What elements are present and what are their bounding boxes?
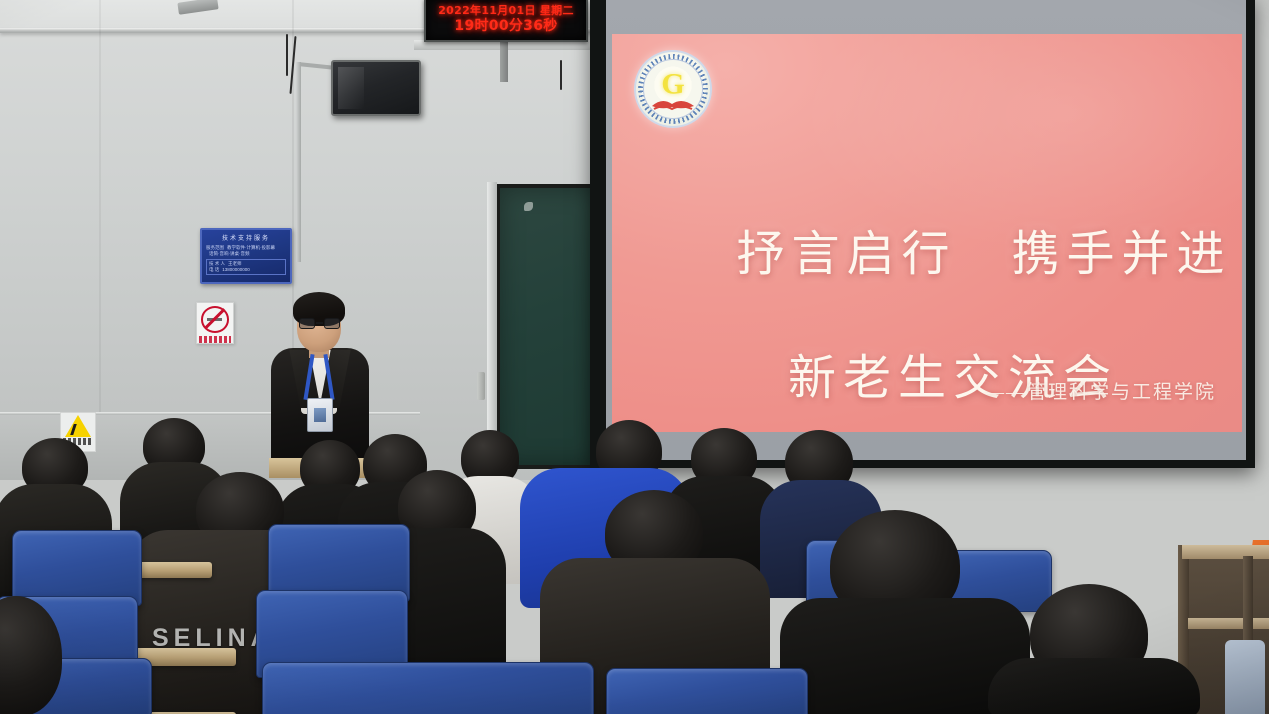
wall-speaker	[331, 60, 421, 116]
audience-area: SELINA	[0, 400, 1269, 714]
led-date-text: 2022年11月01日 星期二	[438, 4, 574, 18]
sign-row-value: 话筒·音响·讲桌·音频	[209, 251, 250, 257]
sign-row: 电 话 13800000000	[209, 267, 283, 273]
sign-row-value: 13800000000	[222, 267, 250, 273]
sign-title: 技术支持服务	[206, 233, 286, 242]
university-logo: G	[634, 50, 712, 128]
slide-title-line1: 抒言启行 携手并进	[736, 228, 1231, 281]
hanging-cable	[560, 60, 562, 90]
no-smoking-sign	[196, 302, 234, 344]
sign-row-label: 服务范围	[206, 245, 224, 251]
no-smoking-icon	[201, 306, 229, 333]
auditorium-seat[interactable]	[262, 662, 594, 714]
hanging-cable	[286, 34, 288, 76]
glasses-lens-right	[324, 318, 340, 329]
sign-contact-box: 技 术 人 王老师 电 话 13800000000	[206, 259, 286, 275]
speaker-pole	[296, 62, 301, 262]
led-clock-stand	[500, 36, 508, 82]
led-clock-display: 2022年11月01日 星期二 19时00分36秒	[424, 0, 588, 42]
led-time-text: 19时00分36秒	[454, 18, 557, 35]
audience-person	[988, 658, 1200, 714]
chalk-holder	[477, 372, 485, 400]
logo-book-icon	[651, 95, 695, 111]
technical-support-sign: 技术支持服务 服务范围 教学软件·计算机·投影幕 话筒·音响·讲桌·音频 技 术…	[200, 228, 292, 284]
glasses-icon	[299, 318, 340, 329]
no-smoking-label	[199, 336, 231, 344]
auditorium-seat[interactable]	[606, 668, 808, 714]
glasses-lens-left	[299, 318, 315, 329]
lecture-hall-scene: 2022年11月01日 星期二 19时00分36秒 技术支持服务 服务范围 教学…	[0, 0, 1269, 714]
sign-row: 话筒·音响·讲桌·音频	[206, 251, 286, 257]
auditorium-seat[interactable]	[12, 530, 142, 606]
presentation-slide: G 抒言启行 携手并进 新老生交流会 ——管理科学与工程学院	[612, 34, 1242, 432]
glasses-bridge	[316, 322, 323, 324]
sign-row-label: 电 话	[209, 267, 219, 273]
